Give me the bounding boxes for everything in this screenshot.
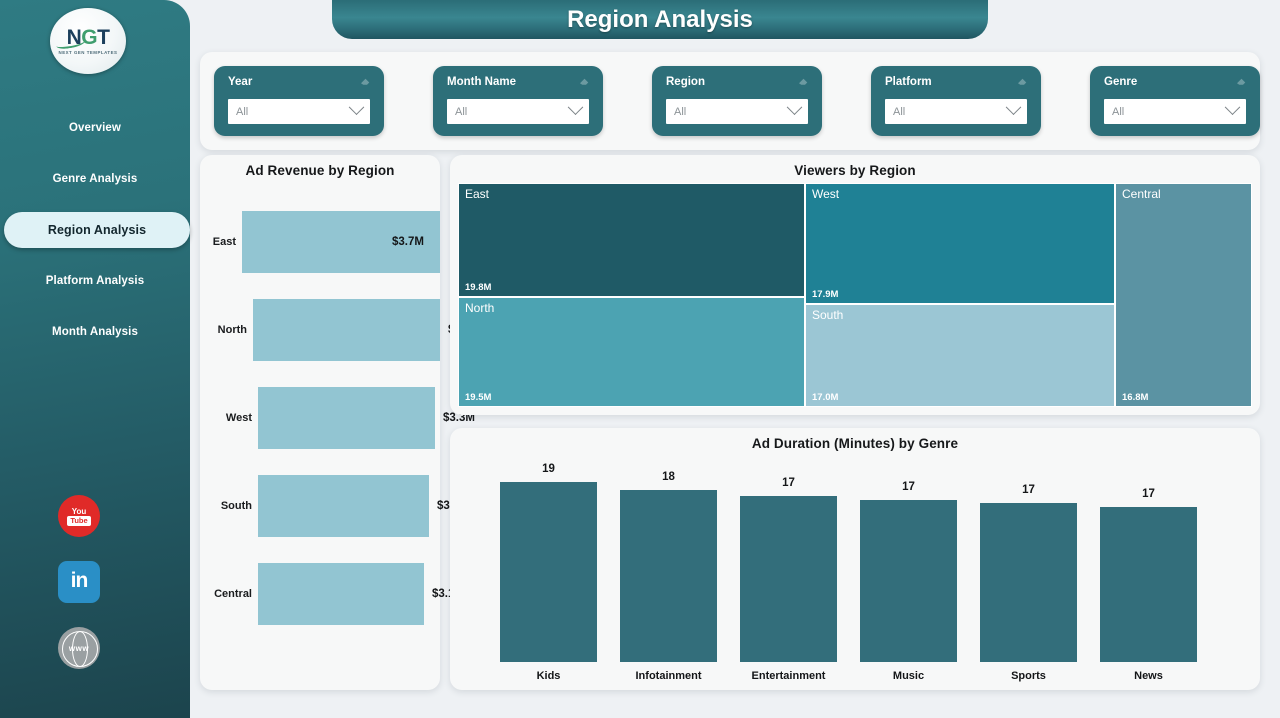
bar-value-label: $3.7M	[392, 236, 424, 248]
clear-filter-icon[interactable]	[578, 75, 591, 87]
slicer-value: All	[674, 106, 789, 118]
ad-duration-by-genre-chart: Ad Duration (Minutes) by Genre 19Kids18I…	[450, 428, 1260, 690]
slicer-label: Genre	[1104, 76, 1137, 88]
website-icon[interactable]: www	[58, 627, 100, 669]
bar-category-label: North	[200, 324, 253, 336]
bar-track: $3.7M	[242, 211, 440, 273]
bar[interactable]	[258, 475, 429, 537]
chevron-down-icon[interactable]	[1225, 99, 1241, 115]
linkedin-icon[interactable]: in	[58, 561, 100, 603]
column-value-label: 19	[500, 463, 597, 475]
treemap-tile[interactable]: West17.9M	[805, 183, 1115, 304]
bar-track: $3.2M	[258, 475, 440, 537]
social-links: You Tube in www	[58, 495, 118, 693]
linkedin-icon-label: in	[71, 569, 88, 593]
column-group[interactable]: 17Entertainment	[740, 496, 837, 662]
slicer-dropdown[interactable]: All	[885, 99, 1027, 124]
slicer-dropdown[interactable]: All	[228, 99, 370, 124]
viewers-by-region-treemap: Viewers by Region East19.8MWest17.9MCent…	[450, 155, 1260, 415]
treemap-tile-value: 19.8M	[465, 282, 491, 293]
chart-title: Ad Duration (Minutes) by Genre	[450, 428, 1260, 451]
chevron-down-icon[interactable]	[1006, 99, 1022, 115]
sidebar-item-region-analysis[interactable]: Region Analysis	[4, 212, 190, 248]
clear-filter-icon[interactable]	[1235, 75, 1248, 87]
logo-subtitle: NEXT GEN TEMPLATES	[59, 50, 118, 55]
clear-filter-icon[interactable]	[797, 75, 810, 87]
logo-letter-t: T	[97, 26, 109, 49]
bar-row[interactable]: North$3.5M	[200, 299, 440, 361]
slicer-label: Platform	[885, 76, 932, 88]
chart-title: Ad Revenue by Region	[200, 155, 440, 178]
treemap-tile-value: 16.8M	[1122, 392, 1148, 403]
chevron-down-icon[interactable]	[349, 99, 365, 115]
slicer-year[interactable]: Year All	[214, 66, 384, 136]
chevron-down-icon[interactable]	[787, 99, 803, 115]
slicer-label: Month Name	[447, 76, 516, 88]
brand-logo: NGT NEXT GEN TEMPLATES	[50, 8, 126, 74]
column-category-label: Sports	[980, 670, 1077, 682]
slicer-value: All	[893, 106, 1008, 118]
website-icon-label: www	[69, 644, 89, 653]
bar-track: $3.1M	[258, 563, 440, 625]
treemap-tile-label: West	[812, 187, 839, 201]
column-bar[interactable]	[620, 490, 717, 662]
youtube-icon-line1: You	[72, 507, 87, 516]
filter-bar: Year All Month Name All Region All Pla	[200, 52, 1260, 150]
treemap-canvas: East19.8MWest17.9MCentral16.8MNorth19.5M…	[458, 183, 1252, 407]
treemap-tile-label: North	[465, 301, 494, 315]
bar-row[interactable]: South$3.2M	[200, 475, 440, 537]
sidebar: NGT NEXT GEN TEMPLATES Overview Genre An…	[0, 0, 190, 718]
youtube-icon[interactable]: You Tube	[58, 495, 100, 537]
sidebar-item-label: Region Analysis	[48, 223, 146, 237]
bar-category-label: South	[200, 500, 258, 512]
column-value-label: 17	[860, 481, 957, 493]
slicer-dropdown[interactable]: All	[666, 99, 808, 124]
treemap-tile[interactable]: East19.8M	[458, 183, 805, 297]
column-group[interactable]: 18Infotainment	[620, 490, 717, 662]
column-group[interactable]: 17Sports	[980, 503, 1077, 662]
column-group[interactable]: 17News	[1100, 507, 1197, 662]
bar[interactable]	[258, 563, 424, 625]
bar-track: $3.5M	[253, 299, 440, 361]
treemap-tile-label: Central	[1122, 187, 1161, 201]
slicer-region[interactable]: Region All	[652, 66, 822, 136]
bar-row[interactable]: Central$3.1M	[200, 563, 440, 625]
treemap-tile-label: South	[812, 308, 843, 322]
logo-circle: NGT NEXT GEN TEMPLATES	[50, 8, 126, 74]
treemap-tile-value: 17.9M	[812, 289, 838, 300]
column-value-label: 18	[620, 471, 717, 483]
column-category-label: Music	[860, 670, 957, 682]
treemap-tile[interactable]: Central16.8M	[1115, 183, 1252, 407]
chart-title: Viewers by Region	[450, 155, 1260, 178]
column-group[interactable]: 19Kids	[500, 482, 597, 662]
clear-filter-icon[interactable]	[359, 75, 372, 87]
dashboard-page: NGT NEXT GEN TEMPLATES Overview Genre An…	[0, 0, 1280, 718]
column-category-label: Entertainment	[740, 670, 837, 682]
column-bar[interactable]	[1100, 507, 1197, 662]
sidebar-item-label: Platform Analysis	[46, 275, 144, 287]
column-bar[interactable]	[740, 496, 837, 662]
column-group[interactable]: 17Music	[860, 500, 957, 662]
treemap-tile-value: 19.5M	[465, 392, 491, 403]
clear-filter-icon[interactable]	[1016, 75, 1029, 87]
horizontal-bars: East$3.7MNorth$3.5MWest$3.3MSouth$3.2MCe…	[200, 197, 440, 687]
slicer-label: Year	[228, 76, 252, 88]
column-category-label: Infotainment	[620, 670, 717, 682]
sidebar-nav: Overview Genre Analysis Region Analysis …	[0, 110, 190, 365]
column-value-label: 17	[1100, 488, 1197, 500]
treemap-tile[interactable]: North19.5M	[458, 297, 805, 407]
column-bar[interactable]	[860, 500, 957, 662]
slicer-dropdown[interactable]: All	[1104, 99, 1246, 124]
bar-row[interactable]: West$3.3M	[200, 387, 440, 449]
chevron-down-icon[interactable]	[568, 99, 584, 115]
sidebar-item-label: Month Analysis	[52, 326, 138, 338]
sidebar-item-platform-analysis[interactable]: Platform Analysis	[0, 263, 190, 299]
slicer-month-name[interactable]: Month Name All	[433, 66, 603, 136]
treemap-tile-value: 17.0M	[812, 392, 838, 403]
sidebar-item-label: Genre Analysis	[53, 173, 138, 185]
sidebar-item-overview[interactable]: Overview	[0, 110, 190, 146]
column-bar[interactable]	[500, 482, 597, 662]
bar[interactable]	[253, 299, 440, 361]
slicer-dropdown[interactable]: All	[447, 99, 589, 124]
slicer-value: All	[455, 106, 570, 118]
slicer-value: All	[236, 106, 351, 118]
page-title: Region Analysis	[332, 0, 988, 39]
sidebar-item-month-analysis[interactable]: Month Analysis	[0, 314, 190, 350]
column-value-label: 17	[740, 477, 837, 489]
youtube-icon-line2: Tube	[67, 516, 90, 526]
treemap-tile-label: East	[465, 187, 489, 201]
column-bar[interactable]	[980, 503, 1077, 662]
bar-track: $3.3M	[258, 387, 440, 449]
slicer-genre[interactable]: Genre All	[1090, 66, 1260, 136]
bar-category-label: Central	[200, 588, 258, 600]
column-value-label: 17	[980, 484, 1077, 496]
bar-category-label: East	[200, 236, 242, 248]
column-category-label: News	[1100, 670, 1197, 682]
vertical-bars: 19Kids18Infotainment17Entertainment17Mus…	[450, 462, 1260, 690]
bar-category-label: West	[200, 412, 258, 424]
sidebar-item-genre-analysis[interactable]: Genre Analysis	[0, 161, 190, 197]
bar-row[interactable]: East$3.7M	[200, 211, 440, 273]
bar[interactable]	[258, 387, 435, 449]
sidebar-item-label: Overview	[69, 122, 121, 134]
slicer-label: Region	[666, 76, 705, 88]
treemap-tile[interactable]: South17.0M	[805, 304, 1115, 407]
column-category-label: Kids	[500, 670, 597, 682]
page-title-text: Region Analysis	[567, 6, 753, 34]
ad-revenue-by-region-chart: Ad Revenue by Region East$3.7MNorth$3.5M…	[200, 155, 440, 690]
slicer-platform[interactable]: Platform All	[871, 66, 1041, 136]
slicer-value: All	[1112, 106, 1227, 118]
